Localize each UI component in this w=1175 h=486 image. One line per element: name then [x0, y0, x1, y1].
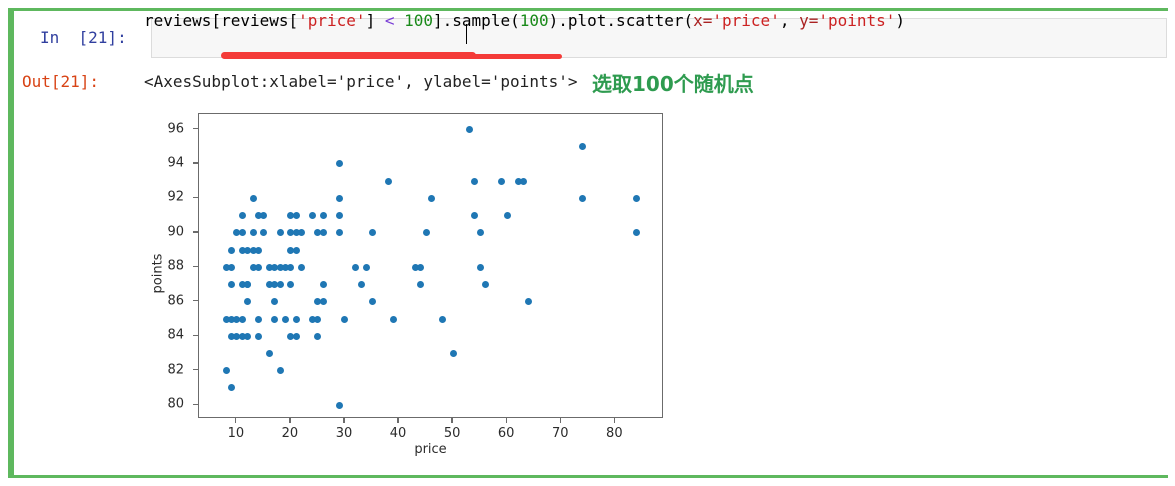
data-point [244, 281, 251, 288]
data-point [428, 195, 435, 202]
code-token-14: ) [895, 11, 905, 30]
x-tick-label: 70 [545, 426, 575, 441]
data-point [228, 281, 235, 288]
data-point [320, 229, 327, 236]
data-point [298, 229, 305, 236]
code-token-13: 'points' [818, 11, 895, 30]
y-tick-label: 96 [158, 121, 184, 136]
data-point [439, 316, 446, 323]
data-point [293, 212, 300, 219]
x-tick-label: 50 [437, 426, 467, 441]
data-point [255, 264, 262, 271]
data-point [244, 298, 251, 305]
data-point [477, 264, 484, 271]
code-token-10: 'price' [712, 11, 779, 30]
data-point [525, 298, 532, 305]
data-point [239, 212, 246, 219]
y-tick-mark [193, 162, 198, 163]
x-tick-mark [397, 418, 398, 423]
data-point [250, 229, 257, 236]
data-point [309, 212, 316, 219]
output-prompt-label: Out[21]: [22, 72, 99, 91]
data-point [255, 316, 262, 323]
code-token-2: ] [366, 11, 385, 30]
data-point [320, 298, 327, 305]
data-point [314, 316, 321, 323]
code-token-5: 100 [404, 11, 433, 30]
y-tick-label: 80 [158, 397, 184, 412]
data-point [314, 333, 321, 340]
data-point [228, 264, 235, 271]
code-token-4 [394, 11, 404, 30]
x-tick-label: 40 [383, 426, 413, 441]
data-point [579, 195, 586, 202]
y-axis-title: points [151, 234, 166, 314]
scatter-plot-output: 8082848688909294961020304050607080 price… [140, 108, 680, 468]
code-token-12: y= [799, 11, 818, 30]
x-tick-mark [506, 418, 507, 423]
y-tick-label: 84 [158, 328, 184, 343]
data-point [228, 247, 235, 254]
x-tick-label: 60 [491, 426, 521, 441]
x-tick-mark [289, 418, 290, 423]
cell-selection-border-left [8, 8, 14, 478]
data-point [471, 178, 478, 185]
data-point [477, 229, 484, 236]
data-point [423, 229, 430, 236]
red-underline-annotation-thin [470, 54, 562, 59]
data-point [271, 316, 278, 323]
code-token-6: ].sample( [433, 11, 520, 30]
data-point [293, 333, 300, 340]
data-point [450, 350, 457, 357]
data-point [298, 264, 305, 271]
data-point [390, 316, 397, 323]
data-point [369, 229, 376, 236]
data-point [363, 264, 370, 271]
x-tick-mark [235, 418, 236, 423]
code-input-text[interactable]: reviews[reviews['price'] < 100].sample(1… [144, 11, 905, 30]
data-point [239, 316, 246, 323]
x-tick-mark [614, 418, 615, 423]
code-token-9: x= [693, 11, 712, 30]
code-token-1: 'price' [298, 11, 365, 30]
data-point [336, 195, 343, 202]
code-token-7: 100 [520, 11, 549, 30]
data-point [336, 160, 343, 167]
data-point [255, 247, 262, 254]
x-tick-label: 20 [275, 426, 305, 441]
data-point [471, 212, 478, 219]
data-point [282, 316, 289, 323]
data-point [482, 281, 489, 288]
y-tick-label: 94 [158, 155, 184, 170]
y-tick-label: 92 [158, 190, 184, 205]
data-point [341, 316, 348, 323]
data-point [498, 178, 505, 185]
y-tick-mark [193, 335, 198, 336]
data-point [287, 281, 294, 288]
data-point [260, 212, 267, 219]
x-axis-title: price [198, 442, 663, 457]
x-tick-mark [451, 418, 452, 423]
data-point [358, 281, 365, 288]
data-point [385, 178, 392, 185]
red-underline-annotation [221, 52, 476, 59]
data-point [633, 195, 640, 202]
data-point [266, 350, 273, 357]
y-tick-mark [193, 231, 198, 232]
text-caret [466, 24, 467, 44]
data-point [223, 367, 230, 374]
output-repr-text: <AxesSubplot:xlabel='price', ylabel='poi… [144, 72, 577, 91]
data-point [293, 316, 300, 323]
data-point [277, 367, 284, 374]
data-point [336, 402, 343, 409]
notebook-cell-area: In [21]: reviews[reviews['price'] < 100]… [0, 0, 1175, 486]
data-point [228, 384, 235, 391]
y-tick-mark [193, 128, 198, 129]
data-point [277, 229, 284, 236]
data-point [277, 281, 284, 288]
code-token-8: ).plot.scatter( [549, 11, 694, 30]
data-point [466, 126, 473, 133]
cell-selection-border-bottom [8, 475, 1168, 478]
data-point [633, 229, 640, 236]
plot-axes-frame [198, 113, 663, 418]
data-point [417, 264, 424, 271]
handwritten-note-annotation: 选取100个随机点 [592, 68, 754, 97]
y-tick-mark [193, 197, 198, 198]
data-point [336, 229, 343, 236]
code-token-0: reviews[reviews[ [144, 11, 298, 30]
y-tick-mark [193, 369, 198, 370]
x-tick-mark [343, 418, 344, 423]
y-tick-mark [193, 404, 198, 405]
data-point [255, 333, 262, 340]
x-tick-label: 10 [221, 426, 251, 441]
data-point [293, 247, 300, 254]
y-tick-mark [193, 300, 198, 301]
data-point [417, 281, 424, 288]
data-point [352, 264, 359, 271]
data-point [369, 298, 376, 305]
data-point [320, 281, 327, 288]
data-point [271, 298, 278, 305]
data-point [250, 195, 257, 202]
input-prompt-label: In [21]: [40, 28, 127, 47]
data-point [320, 212, 327, 219]
data-point [239, 229, 246, 236]
y-tick-mark [193, 266, 198, 267]
data-point [504, 212, 511, 219]
x-tick-mark [560, 418, 561, 423]
y-tick-label: 82 [158, 362, 184, 377]
code-token-11: , [780, 11, 799, 30]
x-tick-label: 30 [329, 426, 359, 441]
data-point [579, 143, 586, 150]
data-point [336, 212, 343, 219]
x-tick-label: 80 [599, 426, 629, 441]
data-point [520, 178, 527, 185]
data-point [287, 264, 294, 271]
data-point [260, 229, 267, 236]
data-point [244, 333, 251, 340]
